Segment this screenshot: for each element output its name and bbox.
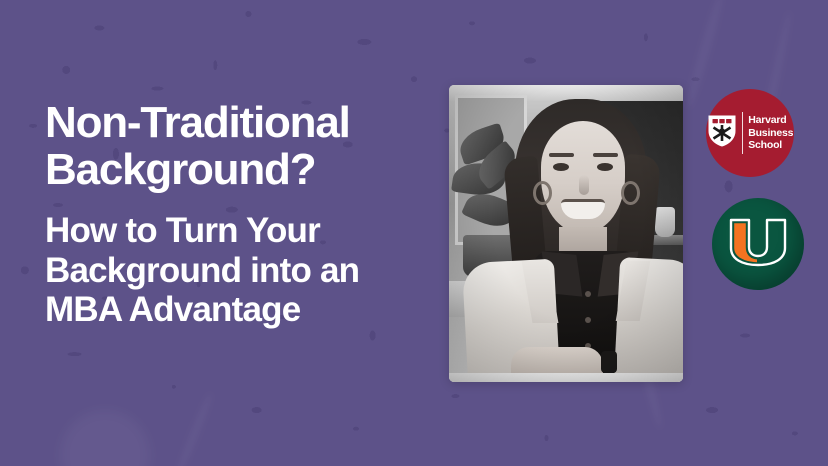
page-title: Non-Traditional Background? [45, 100, 445, 193]
photo-vignette [449, 85, 683, 382]
badge-university-of-miami[interactable] [712, 198, 804, 290]
harvard-divider-rule [742, 112, 744, 154]
page-subtitle: How to Turn Your Background into an MBA … [45, 211, 445, 330]
title-card-canvas: Non-Traditional Background? How to Turn … [0, 0, 828, 466]
badge-harvard-business-school[interactable]: Harvard Business School [706, 89, 794, 177]
harvard-wordmark: Harvard Business School [748, 114, 793, 152]
portrait-photo: Black and white portrait of a smiling wo… [449, 85, 683, 382]
miami-u-icon [725, 216, 791, 273]
copy-block: Non-Traditional Background? How to Turn … [45, 100, 445, 330]
harvard-shield-icon [707, 114, 737, 153]
